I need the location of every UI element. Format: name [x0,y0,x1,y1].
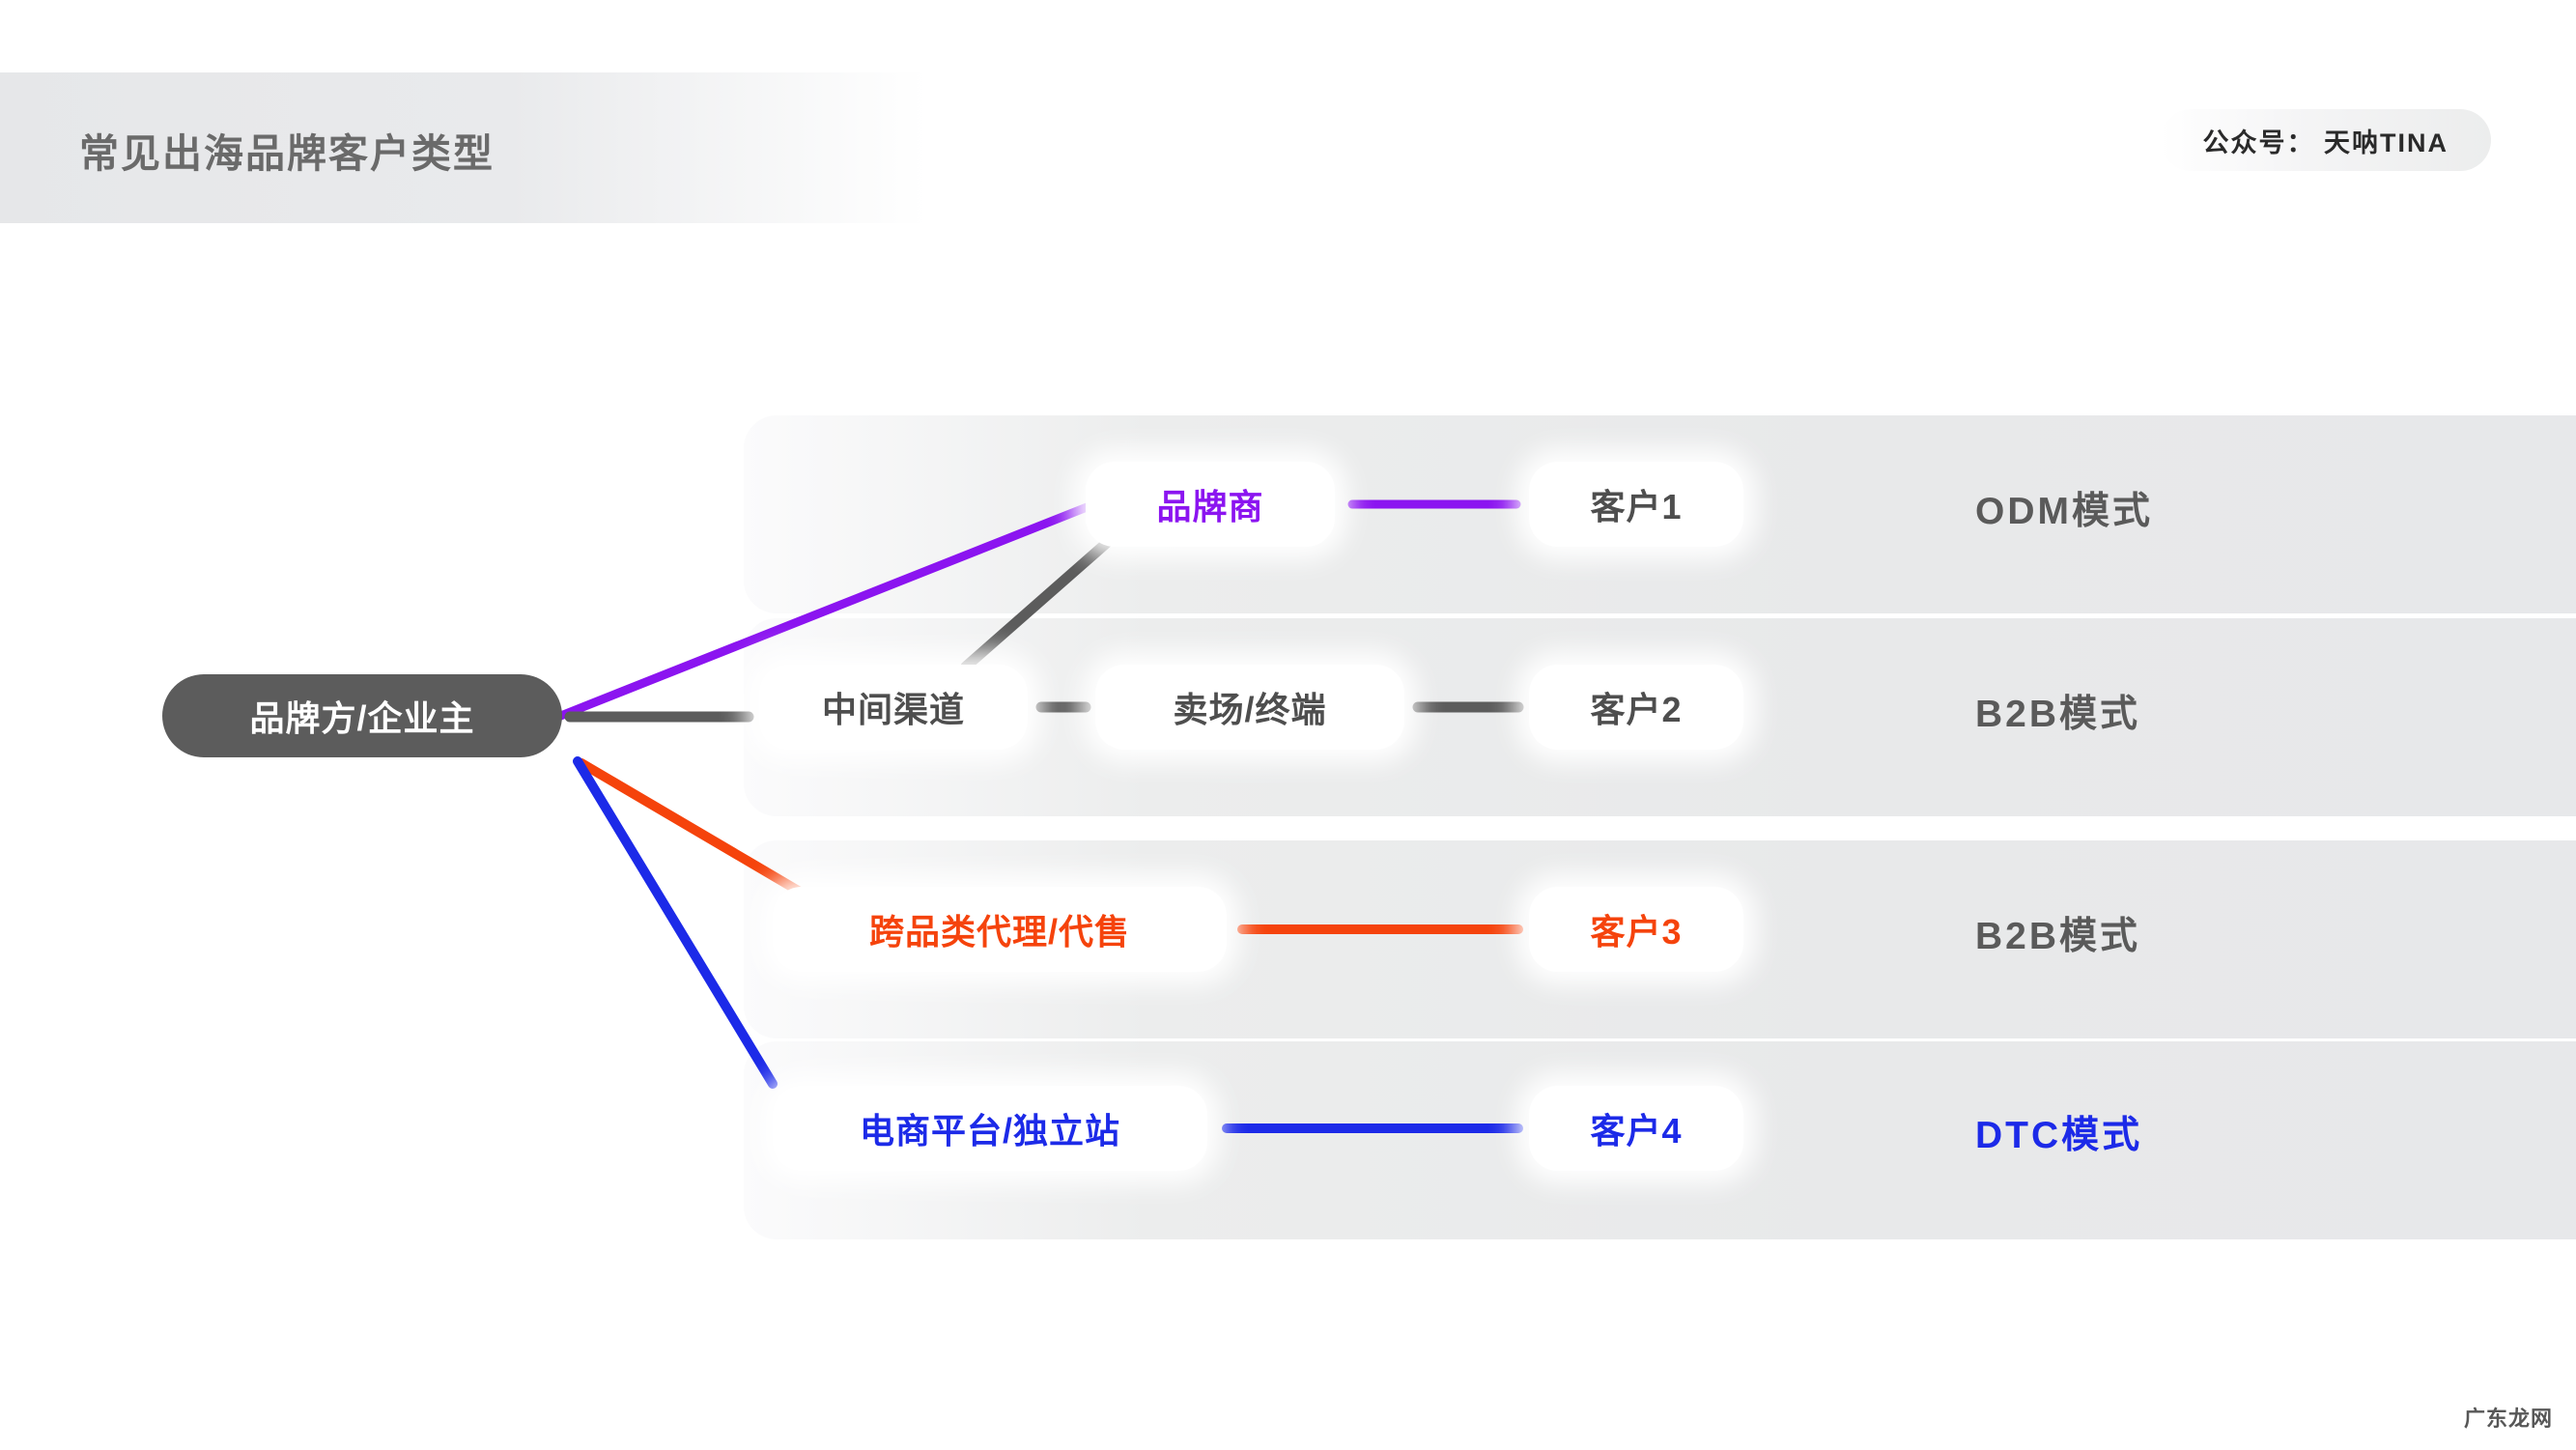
node-store-terminal[interactable]: 卖场/终端 [1095,665,1404,750]
node-ecommerce-platform[interactable]: 电商平台/独立站 [773,1086,1207,1171]
watermark: 广东龙网 [2464,1402,2553,1433]
diagram-canvas: 常见出海品牌客户类型 公众号： 天呐TINA 品牌方/企业主 品牌商 客户1 O… [0,0,2576,1450]
mode-label-dtc: DTC模式 [1975,1105,2142,1159]
link-brand-owner-to-mid-channel [966,541,1109,667]
node-cross-category-agent[interactable]: 跨品类代理/代售 [773,887,1227,972]
node-customer-4[interactable]: 客户4 [1529,1086,1743,1171]
node-brand-owner-root[interactable]: 品牌方/企业主 [162,674,562,757]
node-brand-owner[interactable]: 品牌商 [1086,462,1335,547]
node-customer-3[interactable]: 客户3 [1529,887,1743,972]
node-mid-channel[interactable]: 中间渠道 [759,665,1028,750]
node-customer-1[interactable]: 客户1 [1529,462,1743,547]
mode-label-b2b-agent: B2B模式 [1975,906,2140,960]
mode-label-odm: ODM模式 [1975,481,2153,535]
node-customer-2[interactable]: 客户2 [1529,665,1743,750]
mode-label-b2b-channel: B2B模式 [1975,684,2140,738]
link-root-to-ecommerce-platform [578,761,773,1084]
